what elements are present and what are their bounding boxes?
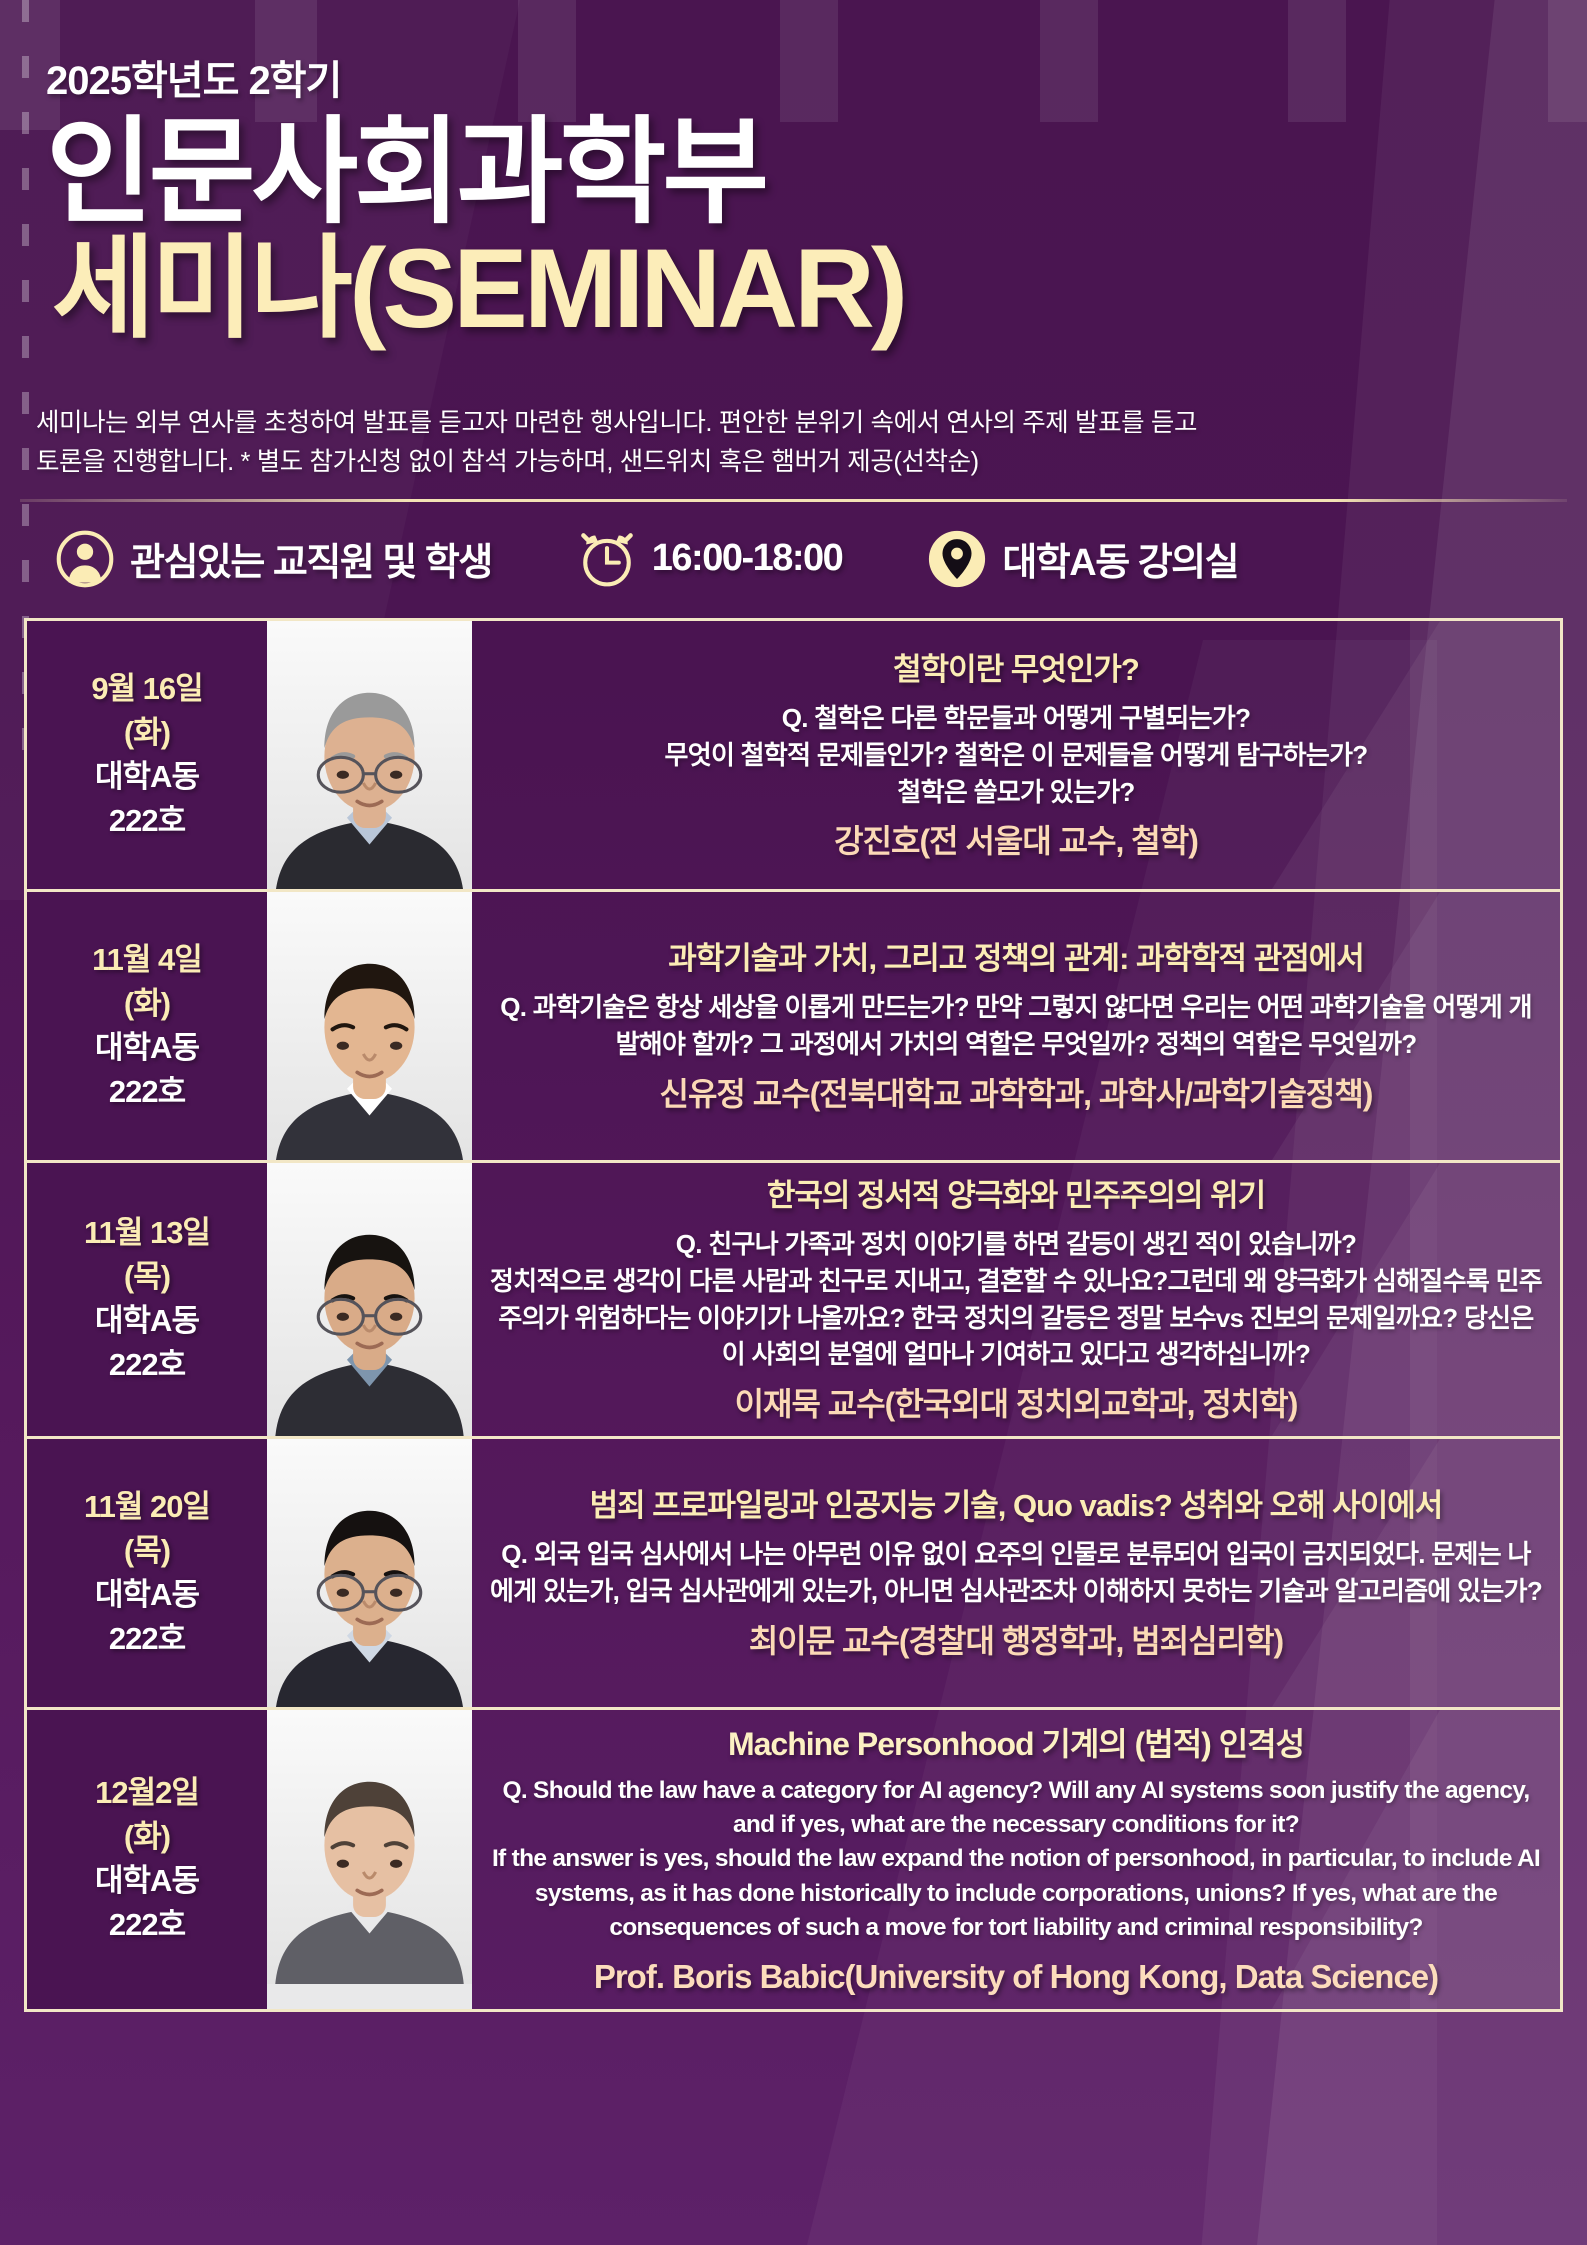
session-weekday: (화) bbox=[124, 711, 170, 755]
session-question: Q. 외국 입국 심사에서 나는 아무런 이유 없이 요주의 인물로 분류되어 … bbox=[490, 1536, 1542, 1610]
session-weekday: (화) bbox=[124, 982, 170, 1026]
session-detail-cell: 한국의 정서적 양극화와 민주주의의 위기 Q. 친구나 가족과 정치 이야기를… bbox=[472, 1163, 1560, 1436]
speaker-photo-choi-imoon bbox=[267, 1439, 472, 1707]
session-title: 철학이란 무엇인가? bbox=[490, 651, 1542, 690]
session-row: 11월 20일 (목) 대학A동 222호 범죄 프로파일링과 인공지능 bbox=[27, 1439, 1560, 1710]
session-question-line: Q. 철학은 다른 학문들과 어떻게 구별되는가? bbox=[490, 700, 1542, 737]
speaker-photo-boris-babic bbox=[267, 1710, 472, 2009]
session-question: Q. 과학기술은 항상 세상을 이롭게 만드는가? 만약 그렇지 않다면 우리는… bbox=[490, 989, 1542, 1063]
session-date-cell: 11월 13일 (목) 대학A동 222호 bbox=[27, 1163, 267, 1436]
speaker-photo-shin-yujeong bbox=[267, 892, 472, 1160]
sessions-table: 9월 16일 (화) 대학A동 222호 철학이란 무엇인가? bbox=[24, 618, 1563, 2012]
session-building: 대학A동 bbox=[95, 1573, 199, 1617]
session-title: 과학기술과 가치, 그리고 정책의 관계: 과학학적 관점에서 bbox=[490, 940, 1542, 979]
session-room: 222호 bbox=[109, 1903, 185, 1947]
session-date: 9월 16일 bbox=[91, 667, 202, 711]
info-strip: 관심있는 교직원 및 학생 16:00-18:00 대학A동 강의실 bbox=[56, 522, 1587, 596]
semester-kicker: 2025학년도 2학기 bbox=[46, 48, 1587, 106]
session-question-line: Q. 친구나 가족과 정치 이야기를 하면 갈등이 생긴 적이 있습니까? bbox=[490, 1226, 1542, 1263]
session-date: 11월 20일 bbox=[84, 1485, 210, 1529]
info-place: 대학A동 강의실 bbox=[928, 530, 1238, 588]
session-detail-cell: 과학기술과 가치, 그리고 정책의 관계: 과학학적 관점에서 Q. 과학기술은… bbox=[472, 892, 1560, 1160]
session-question: Q. 친구나 가족과 정치 이야기를 하면 갈등이 생긴 적이 있습니까?정치적… bbox=[490, 1226, 1542, 1374]
session-date: 12월2일 bbox=[95, 1771, 199, 1815]
session-row: 11월 4일 (화) 대학A동 222호 과학기술과 가치, 그리고 정책의 관… bbox=[27, 892, 1560, 1163]
session-question-line: Q. Should the law have a category for AI… bbox=[490, 1774, 1542, 1843]
session-speaker: 최이문 교수(경찰대 행정학과, 범죄심리학) bbox=[490, 1622, 1542, 1660]
session-question-line: 정치적으로 생각이 다른 사람과 친구로 지내고, 결혼할 수 있나요?그런데 … bbox=[490, 1263, 1542, 1374]
session-room: 222호 bbox=[109, 799, 185, 843]
session-building: 대학A동 bbox=[95, 755, 199, 799]
session-room: 222호 bbox=[109, 1343, 185, 1387]
session-speaker: Prof. Boris Babic(University of Hong Kon… bbox=[490, 1957, 1542, 1997]
session-detail-cell: Machine Personhood 기계의 (법적) 인격성 Q. Shoul… bbox=[472, 1710, 1560, 2009]
time-label: 16:00-18:00 bbox=[652, 537, 843, 580]
session-question: Q. Should the law have a category for AI… bbox=[490, 1774, 1542, 1945]
map-pin-icon bbox=[928, 530, 986, 588]
session-building: 대학A동 bbox=[95, 1859, 199, 1903]
person-icon bbox=[56, 530, 114, 588]
info-time: 16:00-18:00 bbox=[578, 530, 843, 588]
session-row: 11월 13일 (목) 대학A동 222호 한국의 정서적 양극화와 민주 bbox=[27, 1163, 1560, 1439]
speaker-photo-kang-jinho bbox=[267, 621, 472, 889]
place-label: 대학A동 강의실 bbox=[1002, 531, 1238, 586]
session-detail-cell: 범죄 프로파일링과 인공지능 기술, Quo vadis? 성취와 오해 사이에… bbox=[472, 1439, 1560, 1707]
session-row: 12월2일 (화) 대학A동 222호 Machine Personhood 기… bbox=[27, 1710, 1560, 2009]
session-question-line: 무엇이 철학적 문제들인가? 철학은 이 문제들을 어떻게 탐구하는가? bbox=[490, 737, 1542, 774]
session-row: 9월 16일 (화) 대학A동 222호 철학이란 무엇인가? bbox=[27, 621, 1560, 892]
session-title: 범죄 프로파일링과 인공지능 기술, Quo vadis? 성취와 오해 사이에… bbox=[490, 1487, 1542, 1526]
session-question-line: Q. 외국 입국 심사에서 나는 아무런 이유 없이 요주의 인물로 분류되어 … bbox=[490, 1536, 1542, 1610]
session-weekday: (화) bbox=[124, 1815, 170, 1859]
intro-line-1: 세미나는 외부 연사를 초청하여 발표를 듣고자 마련한 행사입니다. 편안한 … bbox=[36, 409, 1197, 437]
session-question-line: Q. 과학기술은 항상 세상을 이롭게 만드는가? 만약 그렇지 않다면 우리는… bbox=[490, 989, 1542, 1063]
intro-line-2: 토론을 진행합니다. * 별도 참가신청 없이 참석 가능하며, 샌드위치 혹은… bbox=[36, 443, 1551, 483]
page-subtitle: 세미나(SEMINAR) bbox=[52, 232, 1587, 346]
poster-header: 2025학년도 2학기 인문사회과학부 세미나(SEMINAR) bbox=[0, 0, 1587, 346]
session-room: 222호 bbox=[109, 1617, 185, 1661]
page-title: 인문사회과학부 bbox=[46, 116, 1587, 230]
seminar-poster: 2025학년도 2학기 인문사회과학부 세미나(SEMINAR) 세미나는 외부… bbox=[0, 0, 1587, 2245]
session-date-cell: 11월 4일 (화) 대학A동 222호 bbox=[27, 892, 267, 1160]
session-date-cell: 12월2일 (화) 대학A동 222호 bbox=[27, 1710, 267, 2009]
session-question-line: 철학은 쓸모가 있는가? bbox=[490, 774, 1542, 811]
session-speaker: 이재묵 교수(한국외대 정치외교학과, 정치학) bbox=[490, 1385, 1542, 1423]
session-weekday: (목) bbox=[124, 1529, 170, 1573]
session-date: 11월 4일 bbox=[92, 938, 202, 982]
session-question: Q. 철학은 다른 학문들과 어떻게 구별되는가?무엇이 철학적 문제들인가? … bbox=[490, 700, 1542, 811]
session-date: 11월 13일 bbox=[84, 1211, 210, 1255]
session-detail-cell: 철학이란 무엇인가? Q. 철학은 다른 학문들과 어떻게 구별되는가?무엇이 … bbox=[472, 621, 1560, 889]
session-building: 대학A동 bbox=[95, 1299, 199, 1343]
audience-label: 관심있는 교직원 및 학생 bbox=[130, 531, 492, 586]
session-date-cell: 11월 20일 (목) 대학A동 222호 bbox=[27, 1439, 267, 1707]
session-date-cell: 9월 16일 (화) 대학A동 222호 bbox=[27, 621, 267, 889]
speaker-photo-lee-jaemuk bbox=[267, 1163, 472, 1436]
session-weekday: (목) bbox=[124, 1255, 170, 1299]
session-title: 한국의 정서적 양극화와 민주주의의 위기 bbox=[490, 1177, 1542, 1216]
session-room: 222호 bbox=[109, 1070, 185, 1114]
session-question-line: If the answer is yes, should the law exp… bbox=[490, 1842, 1542, 1945]
alarm-clock-icon bbox=[578, 530, 636, 588]
session-building: 대학A동 bbox=[95, 1026, 199, 1070]
header-divider bbox=[20, 499, 1567, 502]
session-title: Machine Personhood 기계의 (법적) 인격성 bbox=[490, 1724, 1542, 1764]
session-speaker: 신유정 교수(전북대학교 과학학과, 과학사/과학기술정책) bbox=[490, 1075, 1542, 1113]
intro-paragraph: 세미나는 외부 연사를 초청하여 발표를 듣고자 마련한 행사입니다. 편안한 … bbox=[36, 404, 1551, 483]
session-speaker: 강진호(전 서울대 교수, 철학) bbox=[490, 822, 1542, 860]
info-audience: 관심있는 교직원 및 학생 bbox=[56, 530, 492, 588]
